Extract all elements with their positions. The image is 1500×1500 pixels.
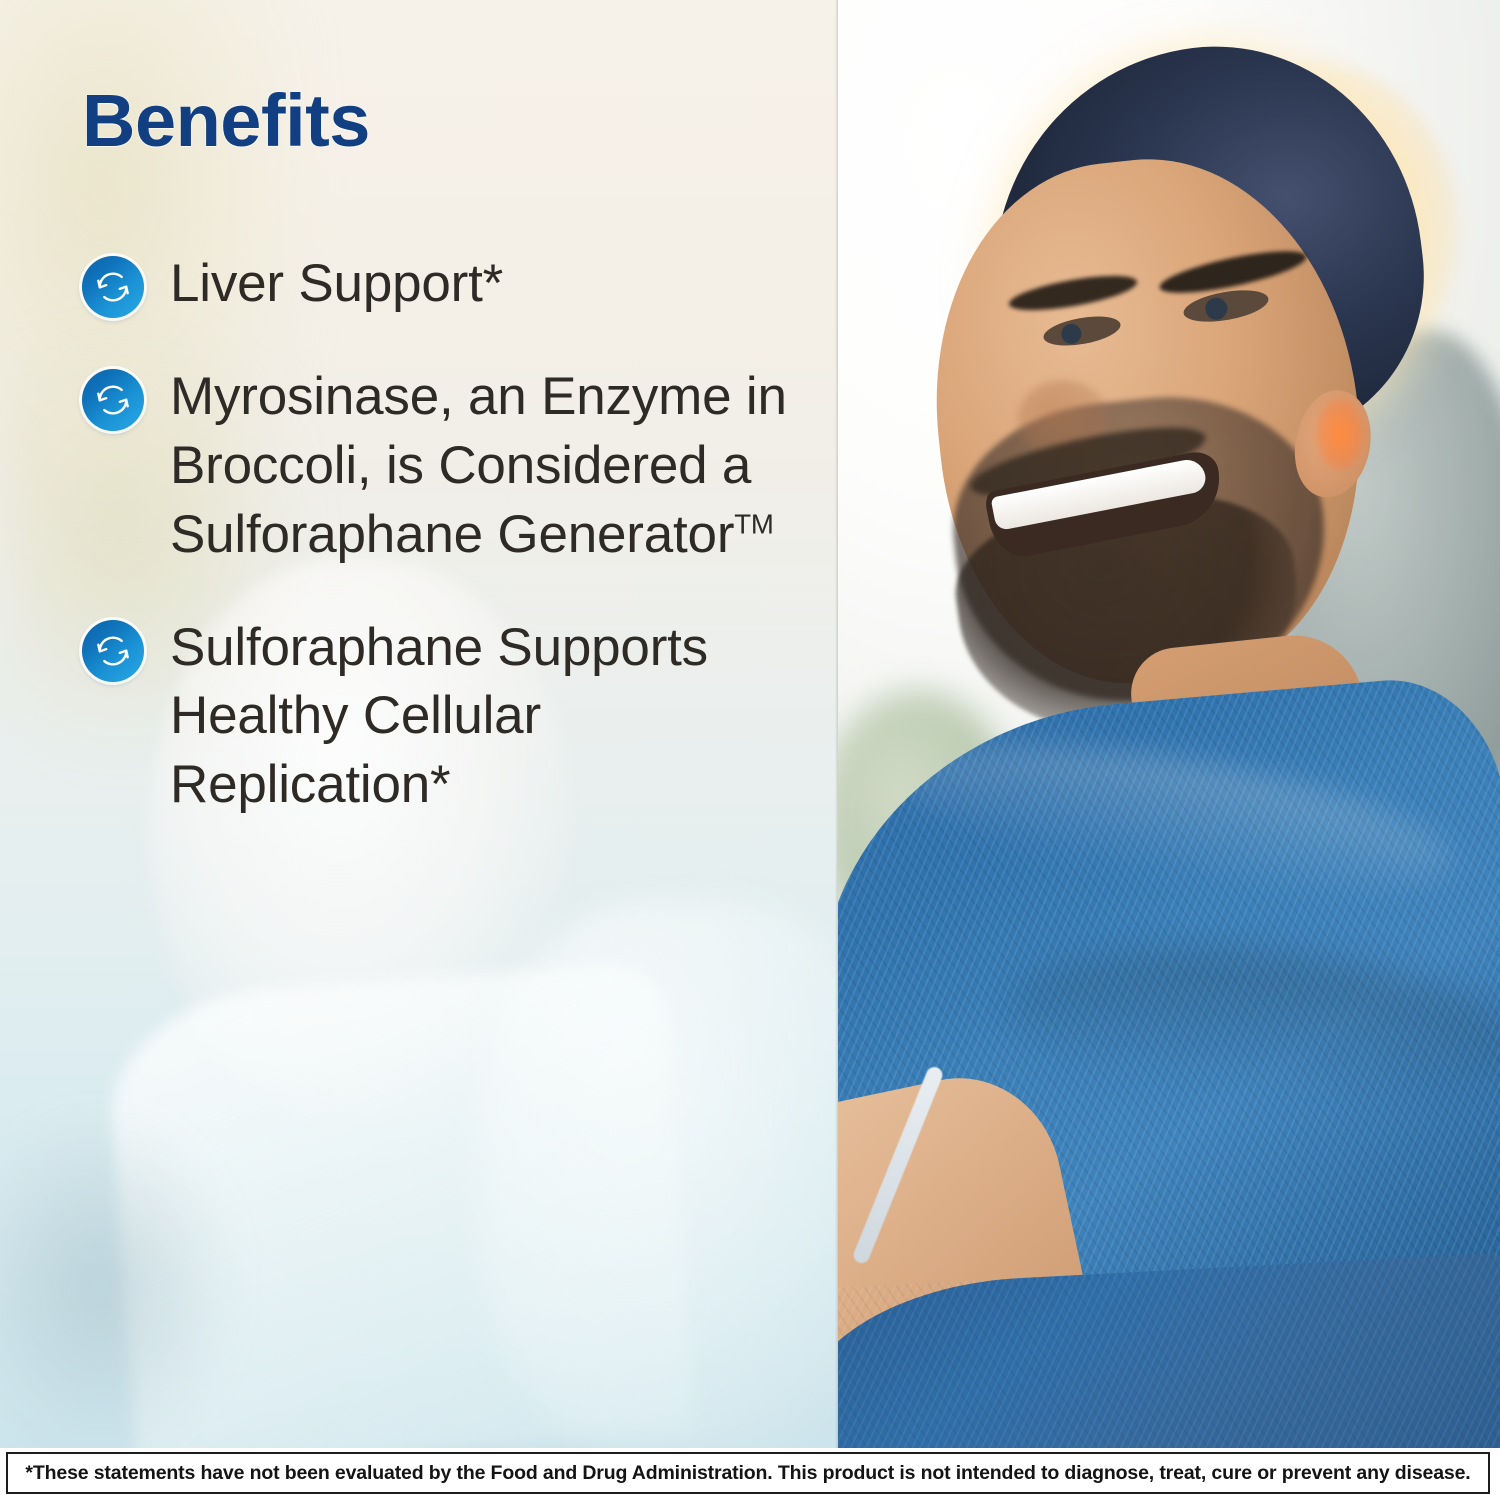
benefit-text: Liver Support* <box>170 250 503 319</box>
benefit-text-main: Myrosinase, an Enzyme in Broccoli, is Co… <box>170 367 787 564</box>
cycle-arrows-icon <box>82 369 144 431</box>
benefit-item-3: Sulforaphane Supports Healthy Cellular R… <box>82 614 822 821</box>
cycle-arrows-icon <box>82 620 144 682</box>
benefit-item-2: Myrosinase, an Enzyme in Broccoli, is Co… <box>82 363 822 570</box>
page-title: Benefits <box>82 78 370 163</box>
benefit-item-1: Liver Support* <box>82 250 822 319</box>
benefits-list: Liver Support* Myrosinase, an Enzyme in … <box>82 250 822 820</box>
benefit-text: Sulforaphane Supports Healthy Cellular R… <box>170 614 822 821</box>
lifestyle-photo <box>838 0 1500 1448</box>
cycle-arrows-icon <box>82 256 144 318</box>
trademark-symbol: TM <box>734 508 773 539</box>
fda-disclaimer-text: *These statements have not been evaluate… <box>25 1462 1470 1485</box>
footer-spacer <box>0 1494 1500 1500</box>
benefits-content: Benefits Liver Support* <box>0 0 838 1448</box>
product-benefits-infographic: Benefits Liver Support* <box>0 0 1500 1500</box>
fda-disclaimer-box: *These statements have not been evaluate… <box>6 1452 1490 1494</box>
benefit-text: Myrosinase, an Enzyme in Broccoli, is Co… <box>170 363 822 570</box>
ear-backlight <box>1316 398 1364 470</box>
